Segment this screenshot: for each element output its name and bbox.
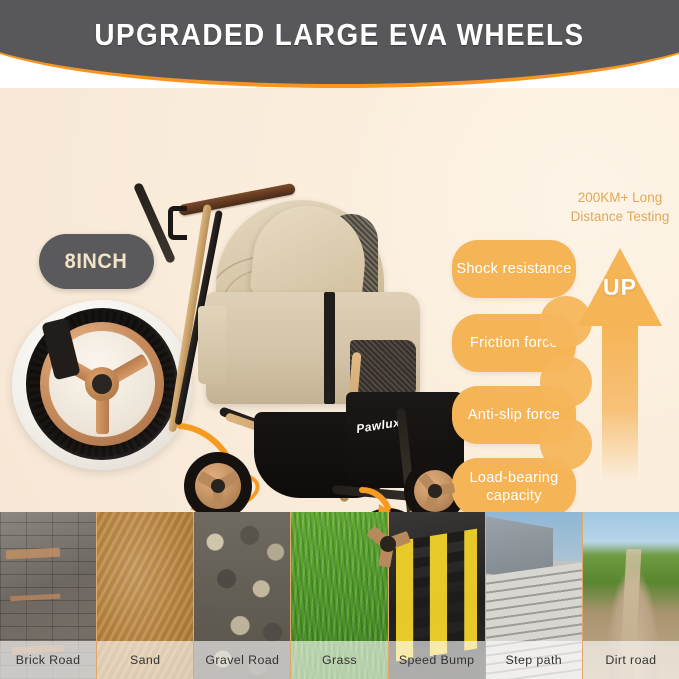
size-badge-label: 8INCH [65, 250, 128, 274]
stroller-wheel-rear-left [184, 452, 252, 520]
terrain-gallery: Brick Road Sand Gravel Road Grass Speed … [0, 512, 679, 679]
feature-pill-shock-resistance: Shock resistance [452, 240, 576, 298]
bassinet-strap [324, 292, 335, 404]
terrain-label: Grass [291, 641, 387, 679]
wheel-hub [85, 367, 119, 401]
page-title: UPGRADED LARGE EVA WHEELS [34, 18, 645, 52]
main-illustration-area: 8INCH [0, 88, 679, 512]
feature-pill-label: Anti-slip force [468, 406, 560, 424]
terrain-label: Sand [97, 641, 193, 679]
terrain-panel-gravel-road: Gravel Road [194, 512, 291, 679]
size-badge: 8INCH [39, 234, 154, 289]
terrain-label: Dirt road [583, 641, 679, 679]
terrain-label: Speed Bump [389, 641, 485, 679]
feature-pill-label: Shock resistance [456, 260, 571, 278]
stroller-bassinet [206, 292, 420, 404]
up-arrow-label: UP [578, 274, 662, 301]
terrain-label: Gravel Road [194, 641, 290, 679]
distance-testing-caption: 200KM+ Long Distance Testing [562, 188, 678, 226]
terrain-label: Step path [486, 641, 582, 679]
terrain-panel-brick-road: Brick Road [0, 512, 97, 679]
infographic-canvas: UPGRADED LARGE EVA WHEELS 8INCH [0, 0, 679, 679]
handle-clip [168, 206, 187, 240]
terrain-label: Brick Road [0, 641, 96, 679]
terrain-panel-dirt-road: Dirt road [583, 512, 679, 679]
terrain-panel-sand: Sand [97, 512, 194, 679]
up-arrow-shaft [602, 322, 638, 480]
terrain-panel-step-path: Step path [486, 512, 583, 679]
header-banner: UPGRADED LARGE EVA WHEELS [0, 0, 679, 92]
feature-pill-label: Load-bearing capacity [452, 469, 576, 505]
bassinet-side-pocket [198, 306, 226, 384]
